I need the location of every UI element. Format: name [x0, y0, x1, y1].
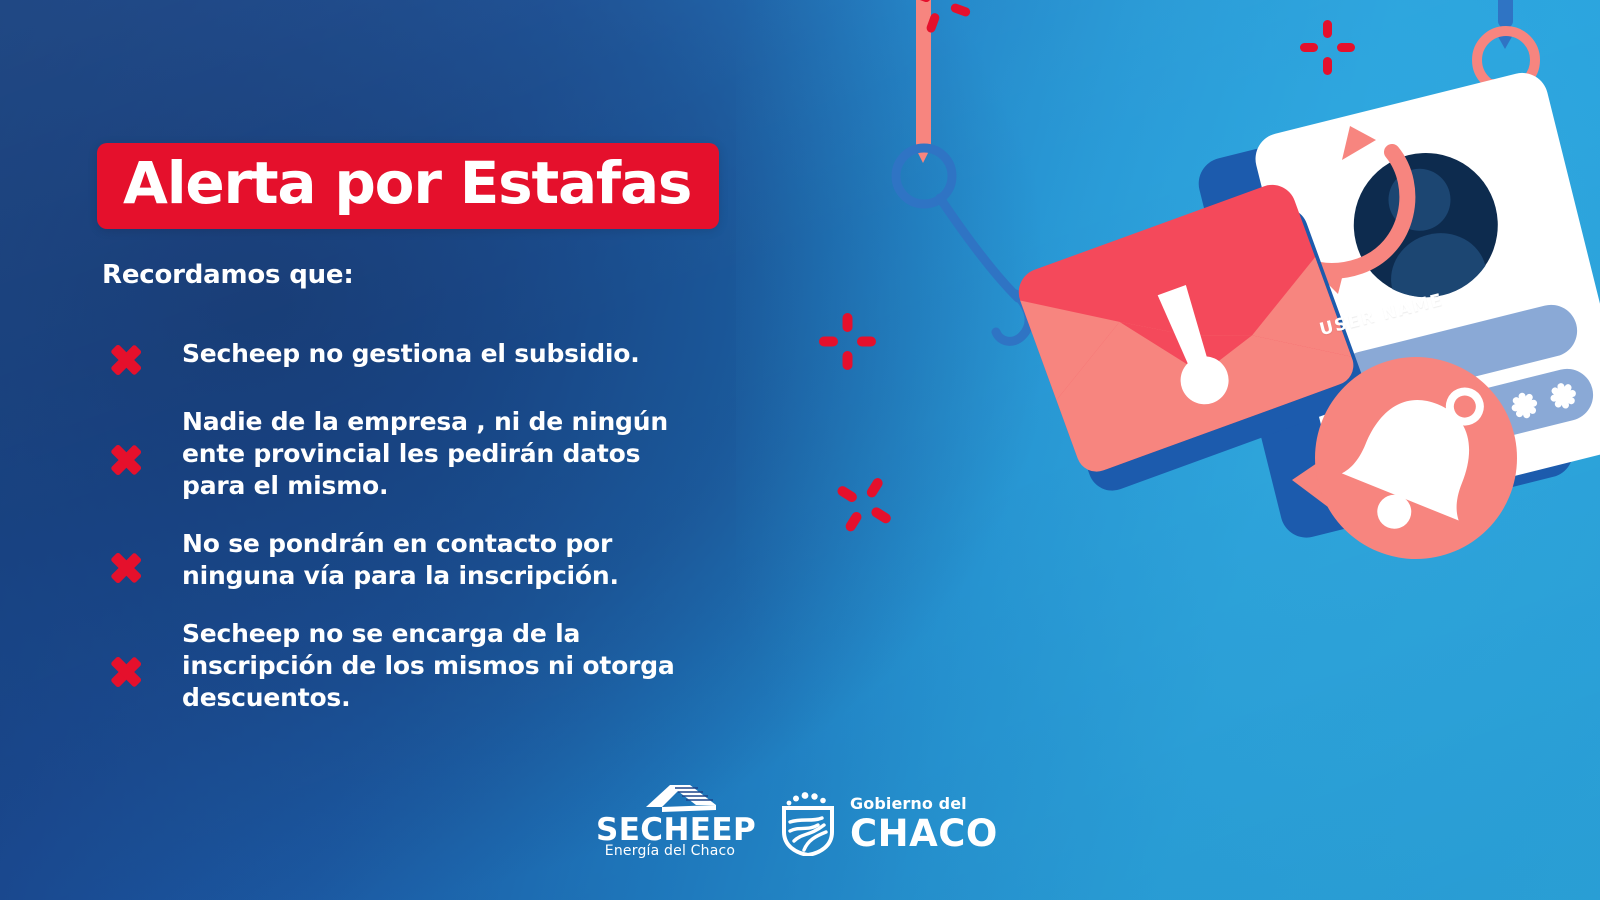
- x-mark-icon: [106, 440, 146, 480]
- scam-alert-illustration: [780, 0, 1600, 620]
- chaco-logo: Gobierno del CHACO: [778, 789, 998, 859]
- list-item: No se pondrán en contacto por ninguna ví…: [106, 528, 736, 592]
- list-item-text: Secheep no se encarga de la inscripción …: [182, 618, 675, 714]
- list-item-text: No se pondrán en contacto por ninguna ví…: [182, 528, 619, 592]
- x-mark-icon: [106, 548, 146, 588]
- list-item: Nadie de la empresa , ni de ningún ente …: [106, 406, 736, 502]
- logo-bar: SECHEEP Energía del Chaco Gobierno d: [596, 783, 998, 859]
- sparkle-icon-3: [819, 313, 876, 370]
- poster-canvas: USER NAME Alerta por Estafas Recordamos …: [0, 0, 1600, 900]
- fishing-hook-left: [896, 0, 1029, 341]
- chaco-logo-line2: CHACO: [850, 815, 998, 852]
- list-item-text: Nadie de la empresa , ni de ningún ente …: [182, 406, 668, 502]
- chaco-shield-mark-icon: [778, 792, 838, 856]
- list-item-text: Secheep no gestiona el subsidio.: [182, 338, 640, 370]
- warning-list: Secheep no gestiona el subsidio. Nadie d…: [106, 338, 736, 714]
- x-mark-icon: [106, 340, 146, 380]
- page-title: Alerta por Estafas: [123, 154, 691, 212]
- secheep-wordmark: SECHEEP: [596, 815, 744, 846]
- x-mark-icon: [106, 652, 146, 692]
- subheading: Recordamos que:: [102, 260, 354, 290]
- chaco-logo-line1: Gobierno del: [850, 796, 998, 812]
- sparkle-icon-1: [901, 0, 980, 43]
- list-item: Secheep no se encarga de la inscripción …: [106, 618, 736, 714]
- list-item: Secheep no gestiona el subsidio.: [106, 338, 736, 380]
- sparkle-icon-4: [822, 463, 906, 547]
- secheep-tagline: Energía del Chaco: [596, 843, 744, 859]
- sparkle-icon-2: [1300, 20, 1355, 75]
- headline-badge: Alerta por Estafas: [97, 143, 719, 229]
- secheep-logo: SECHEEP Energía del Chaco: [596, 783, 744, 859]
